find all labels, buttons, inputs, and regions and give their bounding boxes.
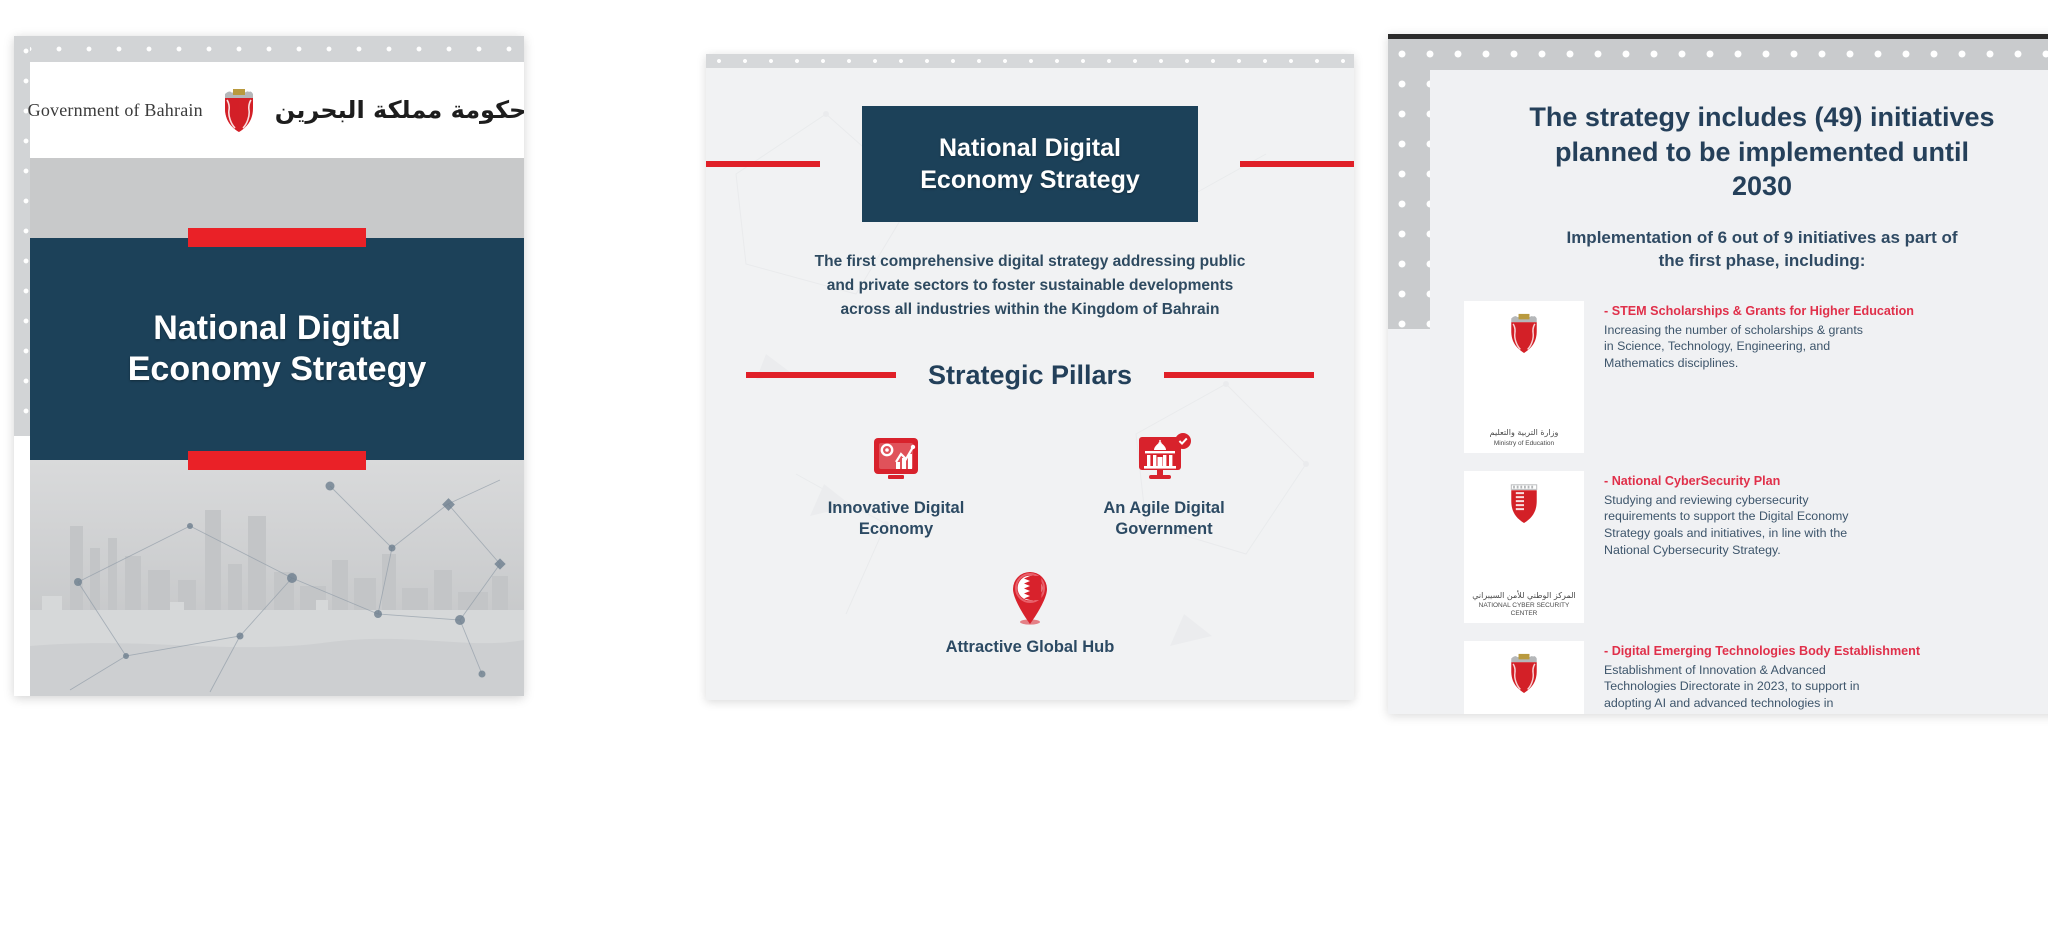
pillar-label: Attractive Global Hub <box>935 637 1125 658</box>
pillar-innovative-digital-economy[interactable]: Innovative Digital Economy <box>801 428 991 541</box>
red-rule-right <box>1164 372 1314 378</box>
ministry-of-education-logo: وزارة التربية والتعليم Ministry of Educa… <box>1464 301 1584 453</box>
pillar-agile-digital-government[interactable]: An Agile Digital Government <box>1069 428 1259 541</box>
pillar-label: An Agile Digital Government <box>1069 498 1259 541</box>
logo-english-text: NATIONAL CYBER SECURITY CENTER <box>1470 602 1578 617</box>
chart-gear-growth-icon <box>801 428 991 488</box>
gray-band <box>30 158 524 238</box>
page-title: The strategy includes (49) initiatives p… <box>1464 100 2048 204</box>
cityscape-image <box>30 460 524 696</box>
government-building-monitor-check-icon <box>1069 428 1259 488</box>
strategy-description: The first comprehensive digital strategy… <box>754 250 1306 322</box>
initiative-heading: - STEM Scholarships & Grants for Higher … <box>1604 303 2048 320</box>
pillar-label: Innovative Digital Economy <box>801 498 991 541</box>
bahrain-coat-of-arms-icon <box>217 84 261 136</box>
initiative-body: Establishment of Innovation & Advanced T… <box>1604 662 2048 714</box>
initiative-text: - National CyberSecurity Plan Studying a… <box>1604 471 2048 558</box>
section-heading: Strategic Pillars <box>910 360 1150 391</box>
slide-1-cover[interactable]: Government of Bahrain حكومة مملكة البحري… <box>14 36 524 696</box>
red-rule-left <box>706 161 820 167</box>
slide-2-title-block: National Digital Economy Strategy <box>740 100 1320 228</box>
slide-1-inner: Government of Bahrain حكومة مملكة البحري… <box>30 62 524 696</box>
information-egovernment-authority-logo: هيئة المعلومات والحكومة الإلكترونية Info… <box>1464 641 1584 714</box>
initiative-heading: - National CyberSecurity Plan <box>1604 473 2048 490</box>
dot-pattern-decoration-left <box>14 36 30 436</box>
slide-1-title-panel: National Digital Economy Strategy <box>30 238 524 460</box>
map-pin-bahrain-flag-icon <box>935 567 1125 627</box>
presentation-slides-canvas: Government of Bahrain حكومة مملكة البحري… <box>0 0 2048 930</box>
logo-arabic-text: المركز الوطني للأمن السيبراني <box>1470 592 1578 601</box>
page-title: National Digital Economy Strategy <box>862 106 1198 222</box>
bahrain-shield-cyber-icon <box>1504 479 1544 532</box>
government-logo-arabic: حكومة مملكة البحرين <box>275 96 524 124</box>
red-accent-bar-top <box>188 228 366 247</box>
page-title: National Digital Economy Strategy <box>128 308 427 391</box>
initiative-body: Studying and reviewing cybersecurity req… <box>1604 492 2048 558</box>
slide-3-initiatives[interactable]: The strategy includes (49) initiatives p… <box>1388 34 2048 714</box>
dot-pattern-decoration-top <box>14 36 524 62</box>
bahrain-coat-of-arms-icon <box>1504 649 1544 702</box>
pillars-row: Innovative Digital Economy <box>740 428 1320 541</box>
government-logo-english: Government of Bahrain <box>28 100 203 121</box>
pillars-row-center: Attractive Global Hub <box>740 567 1320 658</box>
red-rule-left <box>746 372 896 378</box>
logo-arabic-text: وزارة التربية والتعليم <box>1490 429 1559 438</box>
initiative-body: Increasing the number of scholarships & … <box>1604 322 2048 372</box>
page-subtitle: Implementation of 6 out of 9 initiatives… <box>1464 226 2048 274</box>
red-accent-bar-bottom <box>188 451 366 470</box>
slide-2-strategy-overview[interactable]: National Digital Economy Strategy The fi… <box>706 54 1354 700</box>
initiative-row: وزارة التربية والتعليم Ministry of Educa… <box>1464 301 2048 453</box>
initiative-text: - Digital Emerging Technologies Body Est… <box>1604 641 2048 714</box>
slide-3-content: The strategy includes (49) initiatives p… <box>1430 70 2048 714</box>
government-logo-bar: Government of Bahrain حكومة مملكة البحري… <box>30 62 524 158</box>
logo-english-text: Ministry of Education <box>1490 440 1559 447</box>
pillar-attractive-global-hub[interactable]: Attractive Global Hub <box>935 567 1125 658</box>
initiative-text: - STEM Scholarships & Grants for Higher … <box>1604 301 2048 371</box>
strategic-pillars-heading: Strategic Pillars <box>740 352 1320 398</box>
slide-2-content: National Digital Economy Strategy The fi… <box>706 54 1354 658</box>
initiative-row: هيئة المعلومات والحكومة الإلكترونية Info… <box>1464 641 2048 714</box>
initiative-heading: - Digital Emerging Technologies Body Est… <box>1604 643 2048 660</box>
bahrain-coat-of-arms-icon <box>1504 309 1544 362</box>
initiative-row: المركز الوطني للأمن السيبراني NATIONAL C… <box>1464 471 2048 623</box>
red-rule-right <box>1240 161 1354 167</box>
national-cyber-security-center-logo: المركز الوطني للأمن السيبراني NATIONAL C… <box>1464 471 1584 623</box>
